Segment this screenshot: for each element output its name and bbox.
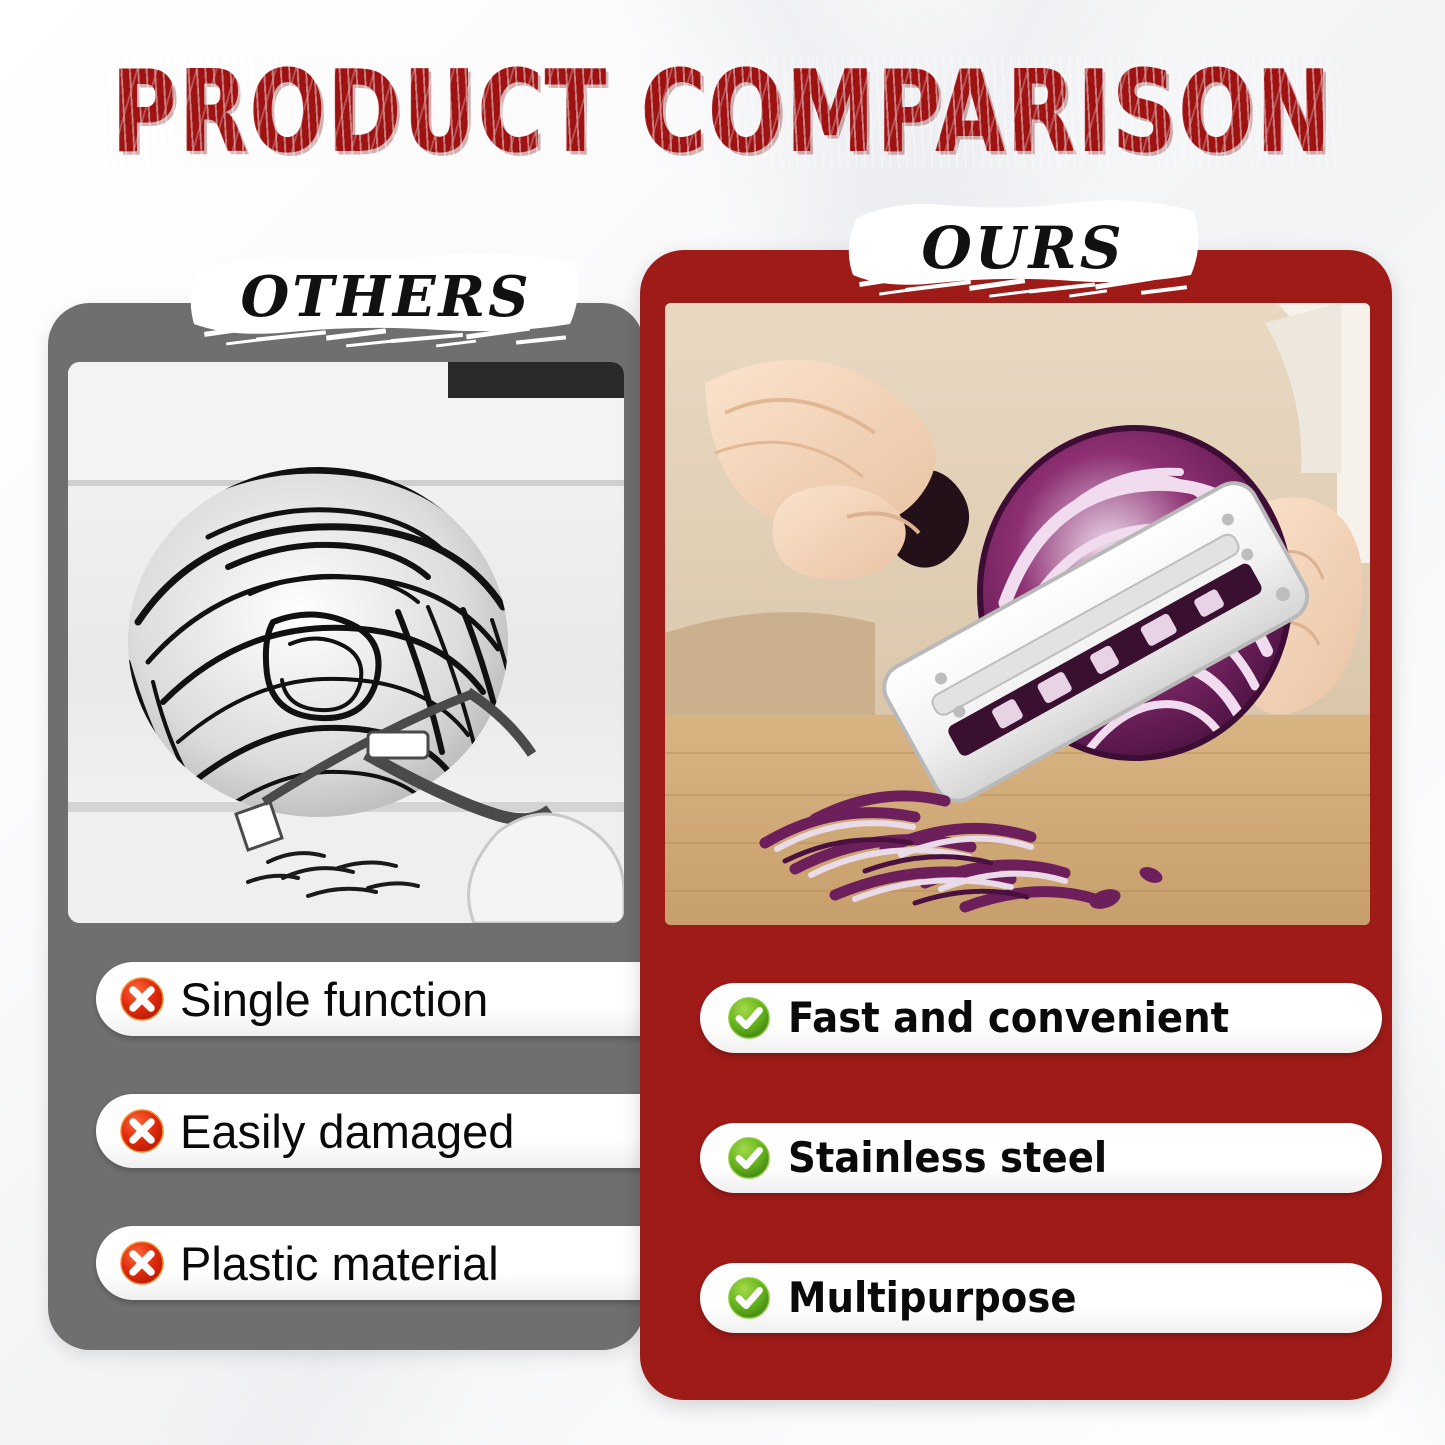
others-feature-item-2: Easily damaged xyxy=(96,1094,666,1168)
ours-badge: OURS xyxy=(843,196,1203,308)
page-title-text: PRODUCT COMPARISON xyxy=(112,55,1333,168)
check-icon xyxy=(726,1275,772,1321)
ours-feature-label-1: Fast and convenient xyxy=(788,997,1229,1039)
check-icon xyxy=(726,995,772,1041)
others-photo-graphic xyxy=(68,362,624,923)
others-feature-item-3: Plastic material xyxy=(96,1226,666,1300)
ours-photo-graphic xyxy=(665,303,1370,925)
others-product-image xyxy=(68,362,624,923)
ours-feature-item-3: Multipurpose xyxy=(700,1263,1382,1333)
others-feature-item-1: Single function xyxy=(96,962,666,1036)
cross-icon xyxy=(118,975,166,1023)
others-badge-label: OTHERS xyxy=(240,264,531,330)
check-icon xyxy=(726,1135,772,1181)
others-feature-label-2: Easily damaged xyxy=(180,1108,514,1155)
others-badge: OTHERS xyxy=(186,248,586,358)
page-title: PRODUCT COMPARISON xyxy=(0,58,1445,166)
cross-icon xyxy=(118,1107,166,1155)
cross-icon xyxy=(118,1239,166,1287)
others-feature-label-1: Single function xyxy=(180,976,488,1023)
ours-feature-item-1: Fast and convenient xyxy=(700,983,1382,1053)
ours-feature-label-3: Multipurpose xyxy=(788,1277,1077,1319)
ours-feature-label-2: Stainless steel xyxy=(788,1137,1107,1179)
ours-badge-label: OURS xyxy=(921,214,1124,282)
ours-feature-item-2: Stainless steel xyxy=(700,1123,1382,1193)
ours-product-image xyxy=(665,303,1370,925)
others-feature-label-3: Plastic material xyxy=(180,1240,499,1287)
